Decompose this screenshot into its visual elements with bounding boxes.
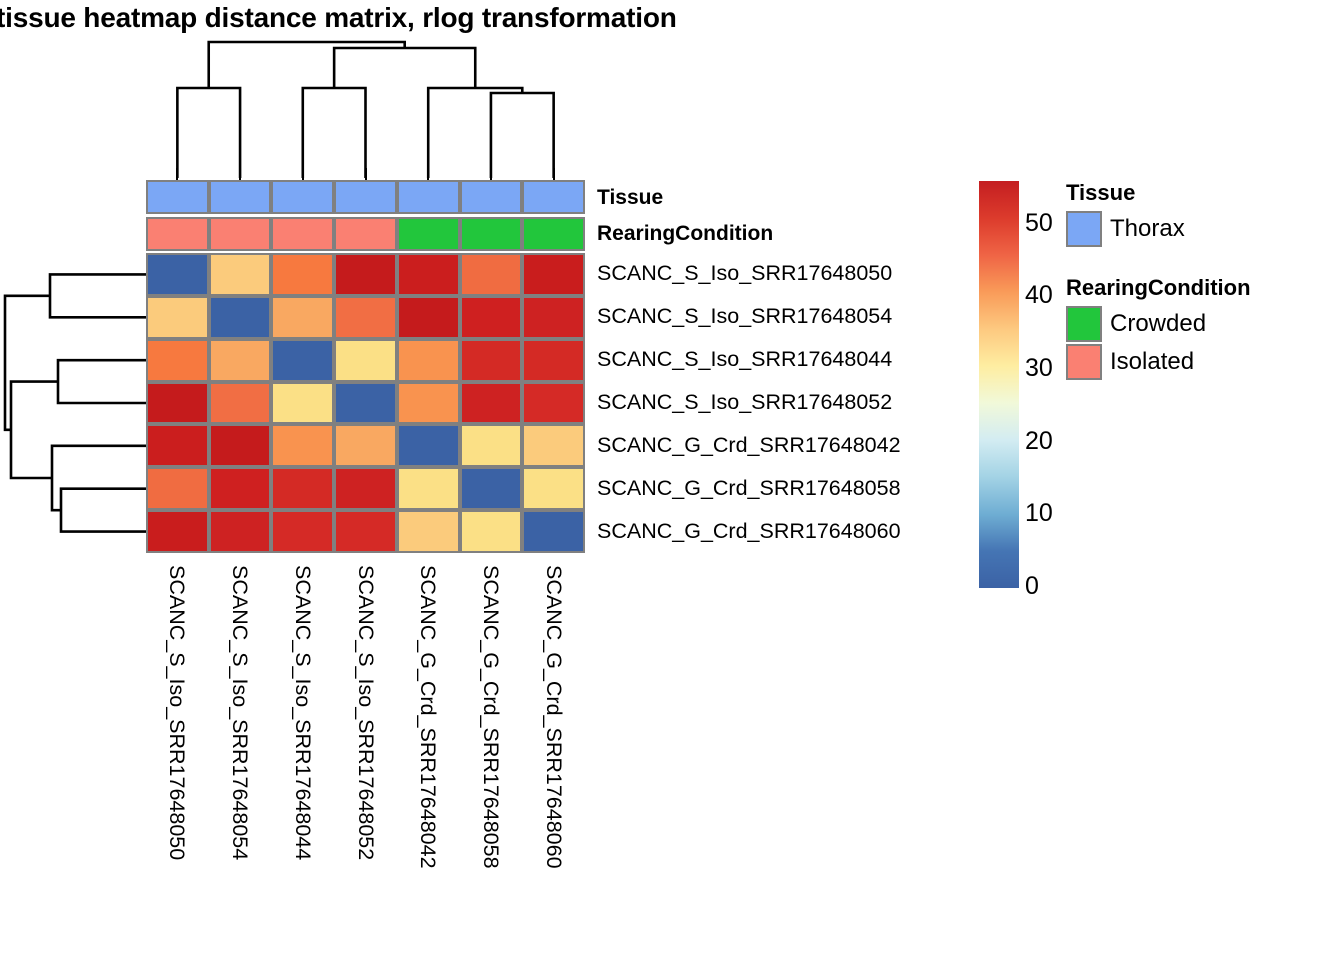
heatmap-cell xyxy=(522,382,585,425)
row-label: SCANC_G_Crd_SRR17648042 xyxy=(597,435,901,457)
heatmap-cell xyxy=(209,424,272,467)
row-dendrogram xyxy=(0,0,160,620)
legend-swatch xyxy=(1066,211,1102,247)
heatmap-cell xyxy=(146,339,209,382)
heatmap-cell xyxy=(146,424,209,467)
row-label: SCANC_G_Crd_SRR17648058 xyxy=(597,478,901,500)
annotation-cell xyxy=(522,180,585,214)
column-tick xyxy=(176,168,178,180)
colorbar-tick-label: 40 xyxy=(1025,283,1053,308)
column-label: SCANC_S_Iso_SRR17648044 xyxy=(291,565,313,860)
column-label: SCANC_S_Iso_SRR17648050 xyxy=(166,565,188,860)
heatmap-cell xyxy=(522,253,585,296)
heatmap-cell xyxy=(209,467,272,510)
legend-label: Thorax xyxy=(1110,217,1185,241)
heatmap-cell xyxy=(271,510,334,553)
annotation-cell xyxy=(460,180,523,214)
heatmap-cell xyxy=(522,424,585,467)
heatmap-cell xyxy=(460,510,523,553)
column-tick xyxy=(365,168,367,180)
heatmap-cell xyxy=(397,382,460,425)
rearing-annotation-title: RearingCondition xyxy=(597,222,773,246)
heatmap-cell xyxy=(146,510,209,553)
heatmap-cell xyxy=(271,467,334,510)
colorbar-tick-label: 20 xyxy=(1025,429,1053,454)
legend-label: Isolated xyxy=(1110,350,1194,374)
heatmap-cell xyxy=(146,253,209,296)
heatmap-cell xyxy=(397,467,460,510)
annotation-cell xyxy=(209,180,272,214)
legend-swatch xyxy=(1066,344,1102,380)
column-label: SCANC_S_Iso_SRR17648052 xyxy=(354,565,376,860)
row-label: SCANC_S_Iso_SRR17648044 xyxy=(597,349,892,371)
legend-label: Crowded xyxy=(1110,312,1206,336)
legend-title: Tissue xyxy=(1066,180,1135,206)
row-label: SCANC_G_Crd_SRR17648060 xyxy=(597,521,901,543)
heatmap-cell xyxy=(522,467,585,510)
heatmap-cell xyxy=(334,510,397,553)
heatmap-cell xyxy=(146,296,209,339)
colorbar-tick-label: 10 xyxy=(1025,501,1053,526)
annotation-cell xyxy=(271,217,334,251)
heatmap-cell xyxy=(522,296,585,339)
annotation-cell xyxy=(397,180,460,214)
heatmap-cell xyxy=(334,382,397,425)
column-tick xyxy=(427,168,429,180)
annotation-cell xyxy=(522,217,585,251)
heatmap-cell xyxy=(334,253,397,296)
annotation-cell xyxy=(334,180,397,214)
legend-title: RearingCondition xyxy=(1066,275,1251,301)
annotation-cell xyxy=(460,217,523,251)
legend-swatch xyxy=(1066,306,1102,342)
heatmap-cell xyxy=(460,296,523,339)
column-tick xyxy=(239,168,241,180)
heatmap-cell xyxy=(271,253,334,296)
heatmap-cell xyxy=(522,339,585,382)
heatmap-cell xyxy=(397,253,460,296)
heatmap-cell xyxy=(271,339,334,382)
tissue-annotation-title: Tissue xyxy=(597,186,663,210)
column-tick xyxy=(490,168,492,180)
heatmap-cell xyxy=(334,467,397,510)
annotation-cell xyxy=(271,180,334,214)
colorbar-tick-label: 50 xyxy=(1025,211,1053,236)
heatmap-cell xyxy=(397,510,460,553)
heatmap-cell xyxy=(334,296,397,339)
annotation-cell xyxy=(146,217,209,251)
heatmap-cell xyxy=(271,424,334,467)
column-tick xyxy=(553,168,555,180)
annotation-cell xyxy=(146,180,209,214)
heatmap-cell xyxy=(209,382,272,425)
heatmap-cell xyxy=(460,339,523,382)
column-label: SCANC_G_Crd_SRR17648060 xyxy=(542,565,564,869)
heatmap-cell xyxy=(334,339,397,382)
heatmap-figure: tissue heatmap distance matrix, rlog tra… xyxy=(0,0,1344,960)
heatmap-cell xyxy=(271,382,334,425)
heatmap-cell xyxy=(397,339,460,382)
row-label: SCANC_S_Iso_SRR17648052 xyxy=(597,392,892,414)
column-label: SCANC_S_Iso_SRR17648054 xyxy=(229,565,251,860)
heatmap-cell xyxy=(209,510,272,553)
annotation-cell xyxy=(334,217,397,251)
annotation-cell xyxy=(397,217,460,251)
colorbar-tick-label: 0 xyxy=(1025,574,1039,599)
row-label: SCANC_S_Iso_SRR17648050 xyxy=(597,263,892,285)
colorbar xyxy=(979,181,1019,588)
heatmap-cell xyxy=(397,424,460,467)
heatmap-cell xyxy=(334,424,397,467)
heatmap-cell xyxy=(460,253,523,296)
heatmap-cell xyxy=(522,510,585,553)
heatmap-cell xyxy=(209,253,272,296)
annotation-cell xyxy=(209,217,272,251)
heatmap-cell xyxy=(209,296,272,339)
colorbar-tick-label: 30 xyxy=(1025,356,1053,381)
heatmap-cell xyxy=(146,382,209,425)
heatmap-cell xyxy=(460,424,523,467)
heatmap-cell xyxy=(209,339,272,382)
row-label: SCANC_S_Iso_SRR17648054 xyxy=(597,306,892,328)
column-label: SCANC_G_Crd_SRR17648042 xyxy=(417,565,439,869)
column-tick xyxy=(302,168,304,180)
heatmap-cell xyxy=(460,467,523,510)
heatmap-cell xyxy=(460,382,523,425)
heatmap-cell xyxy=(271,296,334,339)
heatmap-cell xyxy=(146,467,209,510)
column-label: SCANC_G_Crd_SRR17648058 xyxy=(479,565,501,869)
heatmap-cell xyxy=(397,296,460,339)
